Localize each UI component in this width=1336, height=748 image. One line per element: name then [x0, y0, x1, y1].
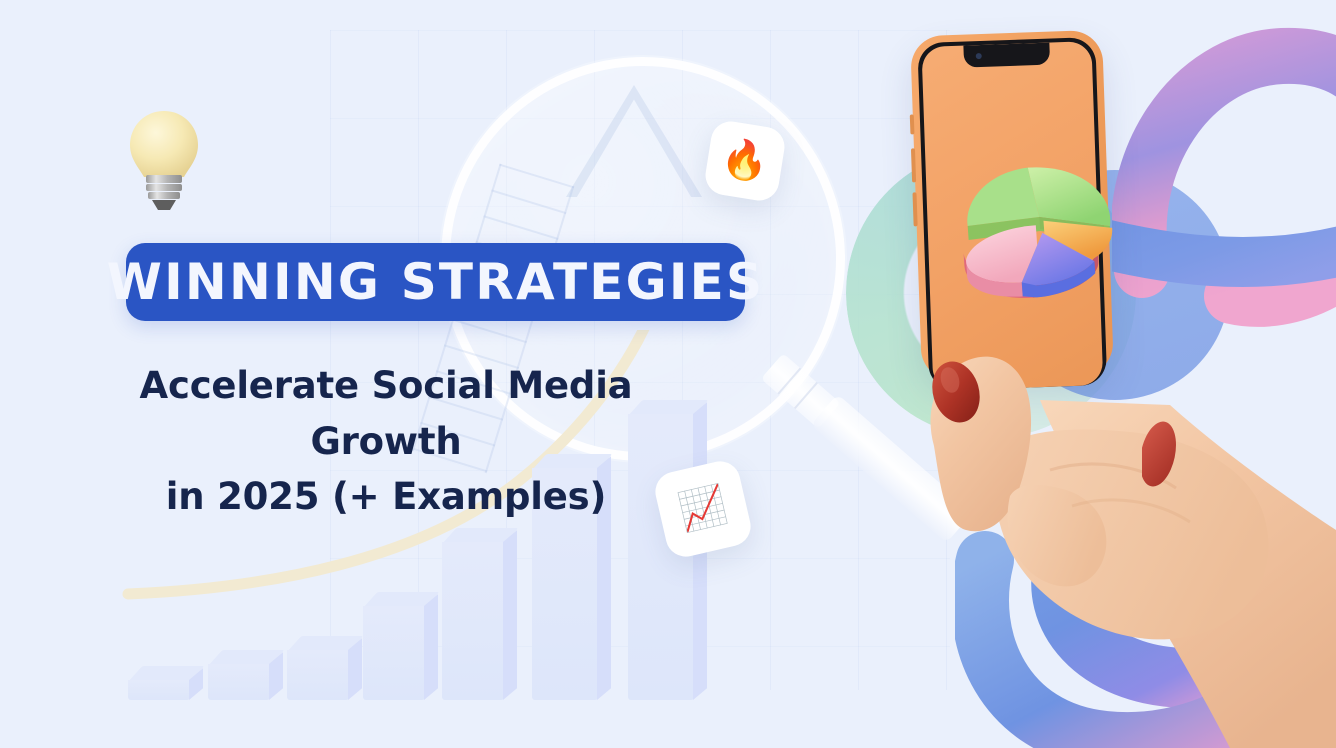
subtitle-line-1: Accelerate Social Media Growth — [140, 364, 633, 463]
phone-notch — [963, 43, 1050, 68]
bar-3 — [287, 636, 349, 700]
hand-holding-phone — [890, 200, 1336, 748]
page-title: Accelerate Social Media Growth in 2025 (… — [78, 358, 694, 525]
bar-2 — [208, 650, 270, 700]
fire-icon: 🔥 — [719, 139, 772, 184]
subtitle-line-2: in 2025 (+ Examples) — [78, 469, 694, 525]
bar-5 — [442, 528, 504, 700]
bar-1 — [128, 666, 190, 700]
fire-emoji-card: 🔥 — [703, 119, 788, 204]
headline-badge-label: WINNING STRATEGIES — [107, 253, 764, 311]
bar-4 — [363, 592, 425, 700]
headline-badge: WINNING STRATEGIES — [126, 243, 745, 321]
lightbulb-icon — [124, 107, 204, 213]
front-camera-icon — [976, 53, 982, 59]
hero-banner: 🔥 📈 — [0, 0, 1336, 748]
thumb-nail-icon — [1142, 418, 1188, 492]
